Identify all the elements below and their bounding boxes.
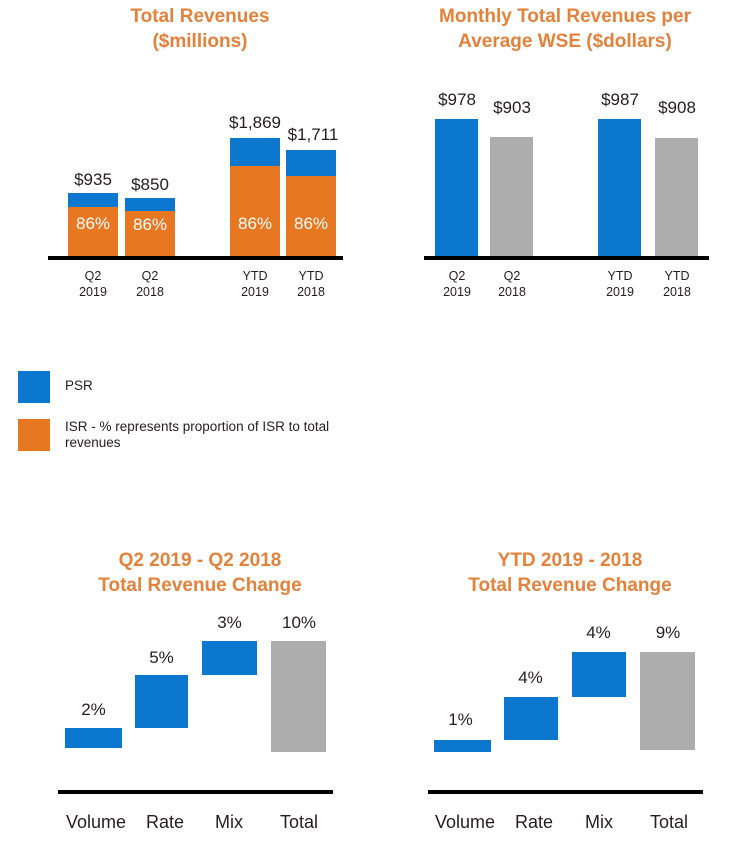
category-label-wse-ytd-2018: YTD 2018 — [647, 268, 707, 300]
value-label-wse-ytd-2018: $908 — [642, 98, 712, 118]
x-axis-q2-revenue-change — [58, 790, 333, 794]
bar-psr-q2-2018 — [125, 198, 175, 211]
legend-swatch-isr-icon — [18, 419, 50, 451]
x-axis-total-revenues — [48, 256, 343, 260]
value-label-q2-volume: 2% — [65, 700, 122, 720]
value-label-wse-q2-2018: $903 — [477, 98, 547, 118]
x-axis-ytd-revenue-change — [428, 790, 703, 794]
category-label-ytd-mix: Mix — [568, 812, 630, 833]
category-label-q2-mix: Mix — [198, 812, 260, 833]
legend-swatch-psr-icon — [18, 371, 50, 403]
chart-title-total-revenues: Total Revenues ($millions) — [60, 4, 340, 54]
bar-isr-ytd-2019 — [230, 166, 280, 256]
bar-q2-mix — [202, 641, 257, 675]
value-label-q2-mix: 3% — [201, 613, 258, 633]
category-label-wse-ytd-2019: YTD 2019 — [590, 268, 650, 300]
category-label-q2-2018: Q2 2018 — [120, 268, 180, 300]
category-label-ytd-total: Total — [636, 812, 702, 833]
category-label-q2-volume: Volume — [58, 812, 134, 833]
chart-title-monthly-revenues-per-wse: Monthly Total Revenues per Average WSE (… — [410, 4, 720, 54]
chart-title-ytd-revenue-change: YTD 2019 - 2018 Total Revenue Change — [425, 548, 715, 598]
bar-wse-q2-2019 — [435, 119, 478, 256]
bar-psr-ytd-2018 — [286, 150, 336, 176]
category-label-q2-total: Total — [266, 812, 332, 833]
chart-title-q2-revenue-change: Q2 2019 - Q2 2018 Total Revenue Change — [55, 548, 345, 598]
bar-q2-volume — [65, 728, 122, 748]
bar-ytd-rate — [504, 697, 558, 740]
bar-wse-q2-2018 — [490, 137, 533, 256]
pct-label-q2-2018: 86% — [125, 215, 175, 235]
category-label-q2-2019: Q2 2019 — [63, 268, 123, 300]
category-label-ytd-rate: Rate — [503, 812, 565, 833]
category-label-wse-q2-2018: Q2 2018 — [482, 268, 542, 300]
bar-ytd-volume — [434, 740, 491, 752]
category-label-ytd-2019: YTD 2019 — [225, 268, 285, 300]
bar-wse-ytd-2019 — [598, 119, 641, 256]
category-label-wse-q2-2019: Q2 2019 — [427, 268, 487, 300]
bar-q2-rate — [135, 675, 188, 728]
x-axis-monthly-revenues-per-wse — [424, 256, 709, 260]
pct-label-ytd-2019: 86% — [230, 214, 280, 234]
value-label-q2-total: 10% — [268, 613, 330, 633]
value-label-q2-2018: $850 — [115, 175, 185, 195]
bar-wse-ytd-2018 — [655, 138, 698, 256]
legend-label-isr: ISR - % represents proportion of ISR to … — [65, 419, 365, 451]
value-label-ytd-rate: 4% — [502, 668, 559, 688]
value-label-ytd-2018: $1,711 — [273, 125, 353, 145]
value-label-ytd-mix: 4% — [570, 623, 627, 643]
category-label-ytd-2018: YTD 2018 — [281, 268, 341, 300]
legend-label-psr: PSR — [65, 378, 365, 394]
pct-label-q2-2019: 86% — [68, 214, 118, 234]
pct-label-ytd-2018: 86% — [286, 214, 336, 234]
bar-ytd-total — [640, 652, 695, 750]
bar-ytd-mix — [572, 652, 626, 697]
value-label-q2-rate: 5% — [133, 648, 190, 668]
bar-q2-total — [271, 641, 326, 752]
category-label-q2-rate: Rate — [134, 812, 196, 833]
category-label-ytd-volume: Volume — [427, 812, 503, 833]
bar-psr-q2-2019 — [68, 193, 118, 207]
value-label-ytd-total: 9% — [638, 623, 698, 643]
value-label-ytd-volume: 1% — [432, 710, 489, 730]
